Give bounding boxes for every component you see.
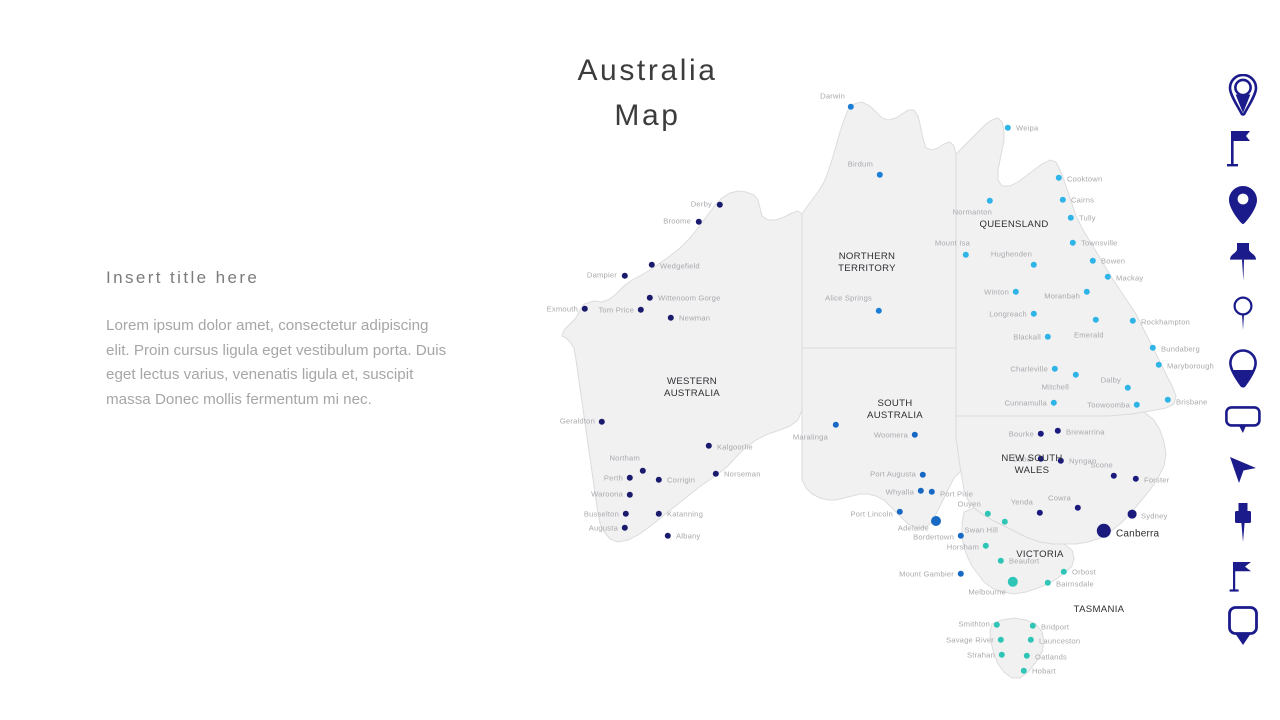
city-dot[interactable]: [958, 533, 964, 539]
flag-waving-icon[interactable]: [1212, 129, 1274, 169]
city-label: Townsville: [1081, 239, 1118, 248]
state-label: TASMANIA: [1074, 604, 1125, 616]
city-label: Perth: [604, 474, 623, 483]
state-label-line: NEW SOUTH: [1001, 453, 1062, 465]
city-dot[interactable]: [1021, 668, 1027, 674]
state-label-line: SOUTH: [867, 398, 923, 410]
city-dot[interactable]: [833, 422, 839, 428]
city-dot[interactable]: [1055, 428, 1061, 434]
city-label: Melbourne: [968, 588, 1006, 597]
city-label: Wittenoom Gorge: [658, 294, 721, 303]
city-label: Bairnsdale: [1056, 580, 1094, 589]
map-pin-large-outline-icon[interactable]: [1212, 349, 1274, 391]
city-label: Bourke: [1009, 430, 1034, 439]
state-label: NEW SOUTHWALES: [1001, 453, 1062, 477]
state-label-line: AUSTRALIA: [867, 410, 923, 422]
city-dot[interactable]: [983, 543, 989, 549]
state-label-line: AUSTRALIA: [664, 388, 720, 400]
city-dot[interactable]: [1030, 623, 1036, 629]
city-label: Oatlands: [1035, 653, 1067, 662]
city-label: Sydney: [1141, 512, 1168, 521]
city-label: Bordertown: [913, 533, 954, 542]
city-label: Mount Gambier: [899, 570, 954, 579]
city-label: Wedgefield: [660, 262, 700, 271]
city-dot[interactable]: [1051, 400, 1057, 406]
city-label: Orbost: [1072, 568, 1096, 577]
city-dot[interactable]: [931, 516, 941, 526]
city-dot[interactable]: [1031, 262, 1037, 268]
city-dot[interactable]: [1045, 580, 1051, 586]
cursor-arrow-icon[interactable]: [1212, 456, 1274, 484]
city-dot[interactable]: [1097, 524, 1111, 538]
city-dot[interactable]: [1060, 197, 1066, 203]
city-label: Ouyen: [958, 500, 981, 509]
city-label: Blackall: [1013, 333, 1041, 342]
city-dot[interactable]: [713, 471, 719, 477]
state-label-line: TERRITORY: [838, 263, 896, 275]
city-label: Exmouth: [547, 305, 578, 314]
insert-title-heading: Insert title here: [106, 268, 456, 288]
city-label: Port Pirie: [940, 490, 973, 499]
city-label: Waroona: [591, 490, 623, 499]
thumbtack-icon[interactable]: [1212, 502, 1274, 544]
speech-bubble-icon[interactable]: [1212, 406, 1274, 434]
city-dot[interactable]: [1084, 289, 1090, 295]
city-dot[interactable]: [897, 509, 903, 515]
city-dot[interactable]: [1128, 510, 1137, 519]
city-dot[interactable]: [1075, 505, 1081, 511]
city-label: Norseman: [724, 470, 761, 479]
marker-icon-rail: [1212, 74, 1274, 644]
city-dot[interactable]: [706, 443, 712, 449]
state-label-line: TASMANIA: [1074, 604, 1125, 616]
city-dot[interactable]: [1125, 385, 1131, 391]
rounded-square-pin-icon[interactable]: [1212, 606, 1274, 646]
city-label: Dampier: [587, 271, 617, 280]
city-dot[interactable]: [998, 558, 1004, 564]
state-label-line: WESTERN: [664, 376, 720, 388]
pushpin-icon[interactable]: [1212, 242, 1274, 282]
city-label: Winton: [984, 288, 1009, 297]
slide-canvas: Insert title here Lorem ipsum dolor amet…: [0, 0, 1280, 720]
city-label: Northam: [609, 454, 640, 463]
city-dot[interactable]: [1037, 510, 1043, 516]
left-text-panel: Insert title here Lorem ipsum dolor amet…: [106, 268, 456, 412]
city-dot[interactable]: [647, 295, 653, 301]
city-label: Woomera: [874, 431, 908, 440]
city-label: Mackay: [1116, 274, 1143, 283]
city-label: Hughenden: [991, 250, 1032, 259]
city-label: Tom Price: [598, 306, 634, 315]
city-label: Mitchell: [1042, 383, 1069, 392]
city-dot[interactable]: [640, 468, 646, 474]
city-label: Adelaide: [898, 524, 929, 533]
city-dot[interactable]: [1045, 334, 1051, 340]
city-label: Strahan: [967, 651, 995, 660]
city-dot[interactable]: [1073, 372, 1079, 378]
city-dot[interactable]: [717, 202, 723, 208]
city-dot[interactable]: [877, 172, 883, 178]
state-label-line: VICTORIA: [1016, 549, 1064, 561]
city-dot[interactable]: [1150, 345, 1156, 351]
city-label: Hobart: [1032, 667, 1056, 676]
city-dot[interactable]: [1013, 289, 1019, 295]
city-label: Normanton: [953, 208, 992, 217]
city-dot[interactable]: [1130, 318, 1136, 324]
city-dot[interactable]: [649, 262, 655, 268]
city-markers-layer: DarwinBirdumAlice SpringsDerbyBroomeWedg…: [540, 80, 1200, 680]
state-label-line: WALES: [1001, 465, 1062, 477]
city-dot[interactable]: [665, 533, 671, 539]
city-label: Birdum: [848, 160, 873, 169]
city-label: Savage River: [946, 636, 994, 645]
city-dot[interactable]: [920, 472, 926, 478]
state-label: SOUTHAUSTRALIA: [867, 398, 923, 422]
city-label: Horsham: [947, 543, 979, 552]
city-dot[interactable]: [963, 252, 969, 258]
city-label: Launceston: [1039, 637, 1080, 646]
city-label: Albany: [676, 532, 700, 541]
city-dot[interactable]: [1111, 473, 1117, 479]
city-label: Corrigin: [667, 476, 695, 485]
city-dot[interactable]: [622, 273, 628, 279]
state-label: WESTERNAUSTRALIA: [664, 376, 720, 400]
city-label: Darwin: [820, 92, 845, 101]
city-dot[interactable]: [1134, 402, 1140, 408]
city-label: Rockhampton: [1141, 318, 1190, 327]
city-label: Emerald: [1074, 331, 1104, 340]
city-dot[interactable]: [1024, 653, 1030, 659]
city-label: Cairns: [1071, 196, 1094, 205]
city-dot[interactable]: [696, 219, 702, 225]
city-label: Bundaberg: [1161, 345, 1200, 354]
city-label: Weipa: [1016, 124, 1038, 133]
city-label: Mount Isa: [935, 239, 970, 248]
city-dot[interactable]: [1105, 274, 1111, 280]
city-dot[interactable]: [668, 315, 674, 321]
city-label: Brewarrina: [1066, 428, 1105, 437]
city-dot[interactable]: [918, 488, 924, 494]
city-dot[interactable]: [998, 637, 1004, 643]
body-paragraph: Lorem ipsum dolor amet, consectetur adip…: [106, 314, 451, 412]
city-dot[interactable]: [1028, 637, 1034, 643]
australia-map[interactable]: DarwinBirdumAlice SpringsDerbyBroomeWedg…: [540, 80, 1200, 680]
city-label: Geraldton: [560, 417, 595, 426]
city-label: Port Augusta: [870, 470, 916, 479]
city-label: Brisbane: [1176, 398, 1208, 407]
city-dot[interactable]: [1061, 569, 1067, 575]
city-dot[interactable]: [1002, 519, 1008, 525]
state-label: QUEENSLAND: [979, 219, 1048, 231]
city-label: Newman: [679, 314, 710, 323]
map-pin-outline-icon[interactable]: [1212, 74, 1274, 116]
city-label: Port Lincoln: [850, 510, 893, 519]
state-label: VICTORIA: [1016, 549, 1064, 561]
city-dot[interactable]: [638, 307, 644, 313]
city-dot[interactable]: [912, 432, 918, 438]
city-dot[interactable]: [848, 104, 854, 110]
city-dot[interactable]: [994, 622, 1000, 628]
city-dot[interactable]: [1165, 397, 1171, 403]
city-label: Derby: [691, 200, 712, 209]
city-dot[interactable]: [599, 419, 605, 425]
city-label: Longreach: [989, 310, 1027, 319]
city-dot[interactable]: [1093, 317, 1099, 323]
city-label: Cunnamulla: [1004, 399, 1047, 408]
city-label: Whyalla: [886, 488, 914, 497]
city-dot[interactable]: [929, 489, 935, 495]
city-label: Augusta: [589, 524, 618, 533]
city-label: Canberra: [1116, 529, 1159, 540]
city-label: Forster: [1144, 476, 1169, 485]
city-label: Yenda: [1011, 498, 1033, 507]
city-label: Cooktown: [1067, 175, 1102, 184]
city-dot[interactable]: [1052, 366, 1058, 372]
city-dot[interactable]: [1156, 362, 1162, 368]
state-label: NORTHERNTERRITORY: [838, 251, 896, 275]
city-dot[interactable]: [627, 492, 633, 498]
city-label: Alice Springs: [825, 294, 872, 303]
city-label: Bowen: [1101, 257, 1125, 266]
city-dot[interactable]: [987, 198, 993, 204]
city-label: Kalgoorlie: [717, 443, 753, 452]
city-dot[interactable]: [1070, 240, 1076, 246]
city-dot[interactable]: [656, 511, 662, 517]
city-label: Swan Hill: [965, 526, 998, 535]
city-dot[interactable]: [958, 571, 964, 577]
city-dot[interactable]: [985, 511, 991, 517]
city-label: Moranbah: [1044, 292, 1080, 301]
city-dot[interactable]: [627, 475, 633, 481]
city-dot[interactable]: [622, 525, 628, 531]
city-dot[interactable]: [656, 477, 662, 483]
city-label: Cowra: [1048, 494, 1071, 503]
city-label: Bridport: [1041, 623, 1069, 632]
city-label: Maryborough: [1167, 362, 1214, 371]
city-dot[interactable]: [876, 308, 882, 314]
pin-thin-outline-icon[interactable]: [1212, 296, 1274, 332]
city-label: Dalby: [1101, 376, 1121, 385]
city-label: Tully: [1079, 214, 1096, 223]
city-label: Katanning: [667, 510, 703, 519]
state-label-line: NORTHERN: [838, 251, 896, 263]
flag-small-icon[interactable]: [1212, 560, 1274, 594]
city-dot[interactable]: [623, 511, 629, 517]
city-label: Toowoomba: [1087, 401, 1130, 410]
city-dot[interactable]: [1038, 431, 1044, 437]
city-dot[interactable]: [999, 652, 1005, 658]
city-dot[interactable]: [1031, 311, 1037, 317]
city-dot[interactable]: [1005, 125, 1011, 131]
city-dot[interactable]: [1068, 215, 1074, 221]
city-dot[interactable]: [1090, 258, 1096, 264]
city-dot[interactable]: [582, 306, 588, 312]
city-label: Scone: [1090, 461, 1113, 470]
state-label-line: QUEENSLAND: [979, 219, 1048, 231]
city-label: Broome: [663, 217, 691, 226]
city-label: Maralinga: [793, 433, 828, 442]
city-label: Smithton: [958, 620, 990, 629]
city-label: Busselton: [584, 510, 619, 519]
city-dot[interactable]: [1008, 577, 1018, 587]
city-label: Charleville: [1010, 365, 1048, 374]
city-dot[interactable]: [1133, 476, 1139, 482]
city-dot[interactable]: [1056, 175, 1062, 181]
map-pin-filled-icon[interactable]: [1212, 186, 1274, 224]
